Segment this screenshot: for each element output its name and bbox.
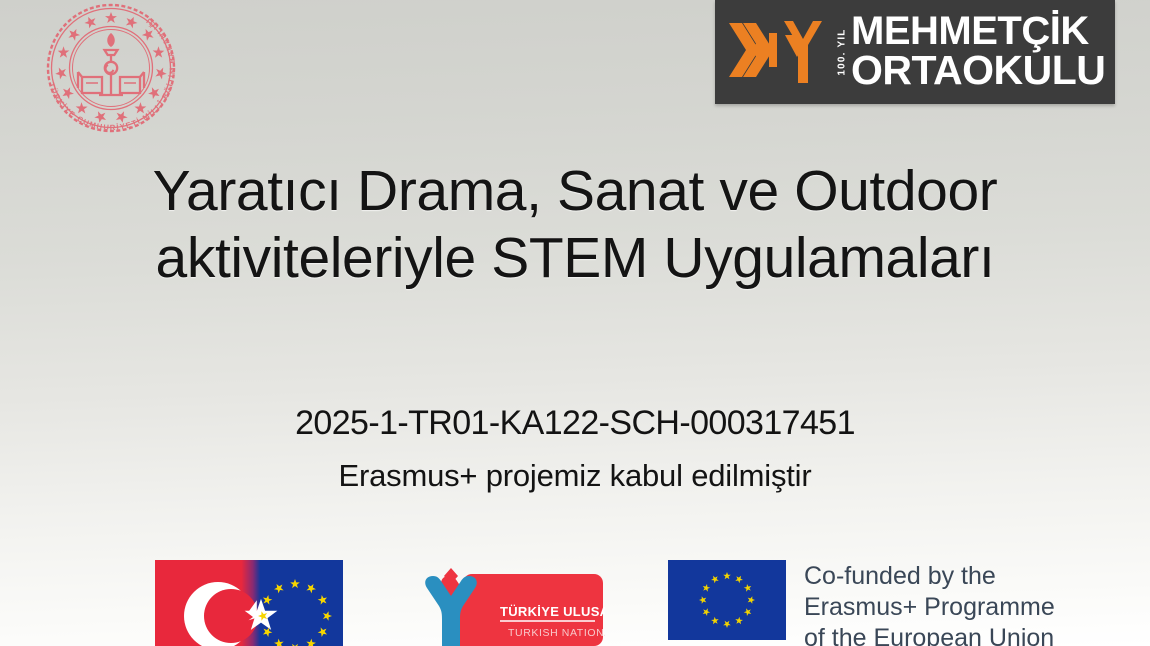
school-logo: 100. YIL MEHMETÇİK ORTAOKULU [715, 0, 1115, 104]
turkish-national-agency-icon: TÜRKİYE ULUSAL AJANSI TURKISH NATIONAL A… [405, 560, 605, 646]
eu-text-line2: Erasmus+ Programme [804, 592, 1055, 623]
school-name-line1: MEHMETÇİK [851, 13, 1105, 51]
footer-logo-row: TÜRKİYE ULUSAL AJANSI TURKISH NATIONAL A… [0, 560, 1150, 646]
agency-title-en: TURKISH NATIONAL AGENCY [508, 627, 605, 639]
turkey-eu-flag-icon [155, 560, 343, 646]
ministry-emblem: TÜRKİYE CUMHURİYETİ MİLLÎ EĞİTİM BAKANLI… [22, 3, 200, 133]
eu-text-line3: of the European Union [804, 623, 1055, 646]
page-title-line1: Yaratıcı Drama, Sanat ve Outdoor [0, 158, 1150, 225]
school-name: MEHMETÇİK ORTAOKULU [851, 13, 1105, 91]
eu-text-line1: Co-funded by the [804, 561, 1055, 592]
school-name-line2: ORTAOKULU [851, 51, 1105, 90]
eu-cofunding-logo: Co-funded by the Erasmus+ Programme of t… [668, 560, 1118, 646]
erasmus-project-poster: TÜRKİYE CUMHURİYETİ MİLLÎ EĞİTİM BAKANLI… [0, 0, 1150, 646]
page-title: Yaratıcı Drama, Sanat ve Outdoor aktivit… [0, 158, 1150, 293]
eu-flag-icon [668, 560, 786, 640]
agency-title-tr: TÜRKİYE ULUSAL AJANSI [500, 604, 605, 619]
meb-seal-icon: TÜRKİYE CUMHURİYETİ MİLLÎ EĞİTİM BAKANLI… [22, 3, 200, 133]
eu-cofunding-text: Co-funded by the Erasmus+ Programme of t… [804, 560, 1055, 646]
page-title-line2: aktiviteleriyle STEM Uygulamaları [0, 225, 1150, 292]
school-anniversary-label: 100. YIL [833, 9, 850, 95]
project-acceptance-note: Erasmus+ projemiz kabul edilmiştir [0, 458, 1150, 494]
project-code: 2025-1-TR01-KA122-SCH-000317451 [0, 404, 1150, 443]
anniversary-text: 100. YIL [836, 28, 847, 75]
mehmetcik-orange-mark-icon [729, 9, 833, 95]
